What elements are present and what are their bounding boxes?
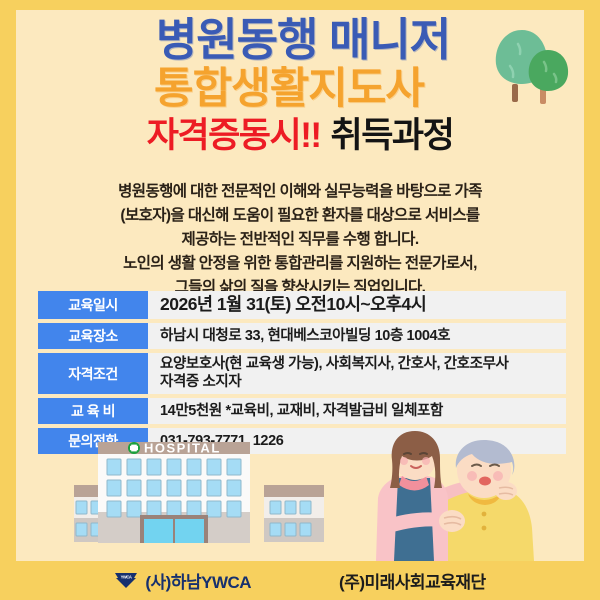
poster-root: 병원동행 매니저 통합생활지도사 자격증동시!!취득과정 병원동행에 대한 전문… [0, 0, 600, 600]
poster-header: 병원동행 매니저 통합생활지도사 자격증동시!!취득과정 [16, 16, 584, 155]
illustration-area: HOSPITAL [16, 428, 584, 561]
footer-org-foundation: (주)미래사회교육재단 [339, 568, 486, 593]
hospital-sign-text: HOSPITAL [144, 441, 221, 456]
info-value: 요양보호사(현 교육생 가능), 사회복지사, 간호사, 간호조무사 자격증 소… [148, 353, 566, 394]
hospital-illustration: HOSPITAL [74, 430, 324, 561]
title-line-3-black: 취득과정 [321, 116, 454, 155]
info-value-line: 자격증 소지자 [160, 373, 508, 391]
ywca-logo-icon: YWCA [114, 572, 138, 589]
info-value: 하남시 대청로 33, 현대베스코아빌딩 10층 1004호 [148, 323, 566, 349]
description-line: 노인의 생활 안정을 위한 통합관리를 지원하는 전문가로서, [34, 252, 566, 276]
description-line: 병원동행에 대한 전문적인 이해와 실무능력을 바탕으로 가족 [34, 180, 566, 204]
ywca-logo-text: YWCA [121, 575, 132, 580]
poster-footer: YWCA (사)하남YWCA (주)미래사회교육재단 [0, 561, 600, 600]
title-line-2: 통합생활지도사 [16, 67, 584, 112]
poster-panel: 병원동행 매니저 통합생활지도사 자격증동시!!취득과정 병원동행에 대한 전문… [16, 10, 584, 561]
people-illustration [368, 428, 578, 561]
title-line-3: 자격증동시!!취득과정 [16, 118, 584, 155]
info-label: 교 육 비 [38, 398, 148, 424]
title-line-1: 병원동행 매니저 [16, 16, 584, 63]
info-value: 14만5천원 *교육비, 교재비, 자격발급비 일체포함 [148, 398, 566, 424]
description-line: 제공하는 전반적인 직무를 수행 합니다. [34, 228, 566, 252]
table-row: 자격조건 요양보호사(현 교육생 가능), 사회복지사, 간호사, 간호조무사 … [38, 353, 566, 394]
footer-org-foundation-label: (주)미래사회교육재단 [339, 568, 486, 593]
info-label: 교육장소 [38, 323, 148, 349]
description-line: (보호자)을 대신해 도움이 필요한 환자를 대상으로 서비스를 [34, 204, 566, 228]
description-block: 병원동행에 대한 전문적인 이해와 실무능력을 바탕으로 가족 (보호자)을 대… [34, 180, 566, 300]
info-label: 자격조건 [38, 353, 148, 394]
table-row: 교육일시 2026년 1월 31(토) 오전10시~오후4시 [38, 291, 566, 319]
footer-org-ywca: YWCA (사)하남YWCA [114, 568, 251, 593]
table-row: 교 육 비 14만5천원 *교육비, 교재비, 자격발급비 일체포함 [38, 398, 566, 424]
title-line-3-red: 자격증동시!! [147, 116, 321, 155]
info-value-line: 요양보호사(현 교육생 가능), 사회복지사, 간호사, 간호조무사 [160, 355, 508, 373]
footer-org-ywca-label: (사)하남YWCA [145, 568, 251, 593]
table-row: 교육장소 하남시 대청로 33, 현대베스코아빌딩 10층 1004호 [38, 323, 566, 349]
info-label: 교육일시 [38, 291, 148, 319]
info-value: 2026년 1월 31(토) 오전10시~오후4시 [148, 291, 566, 319]
